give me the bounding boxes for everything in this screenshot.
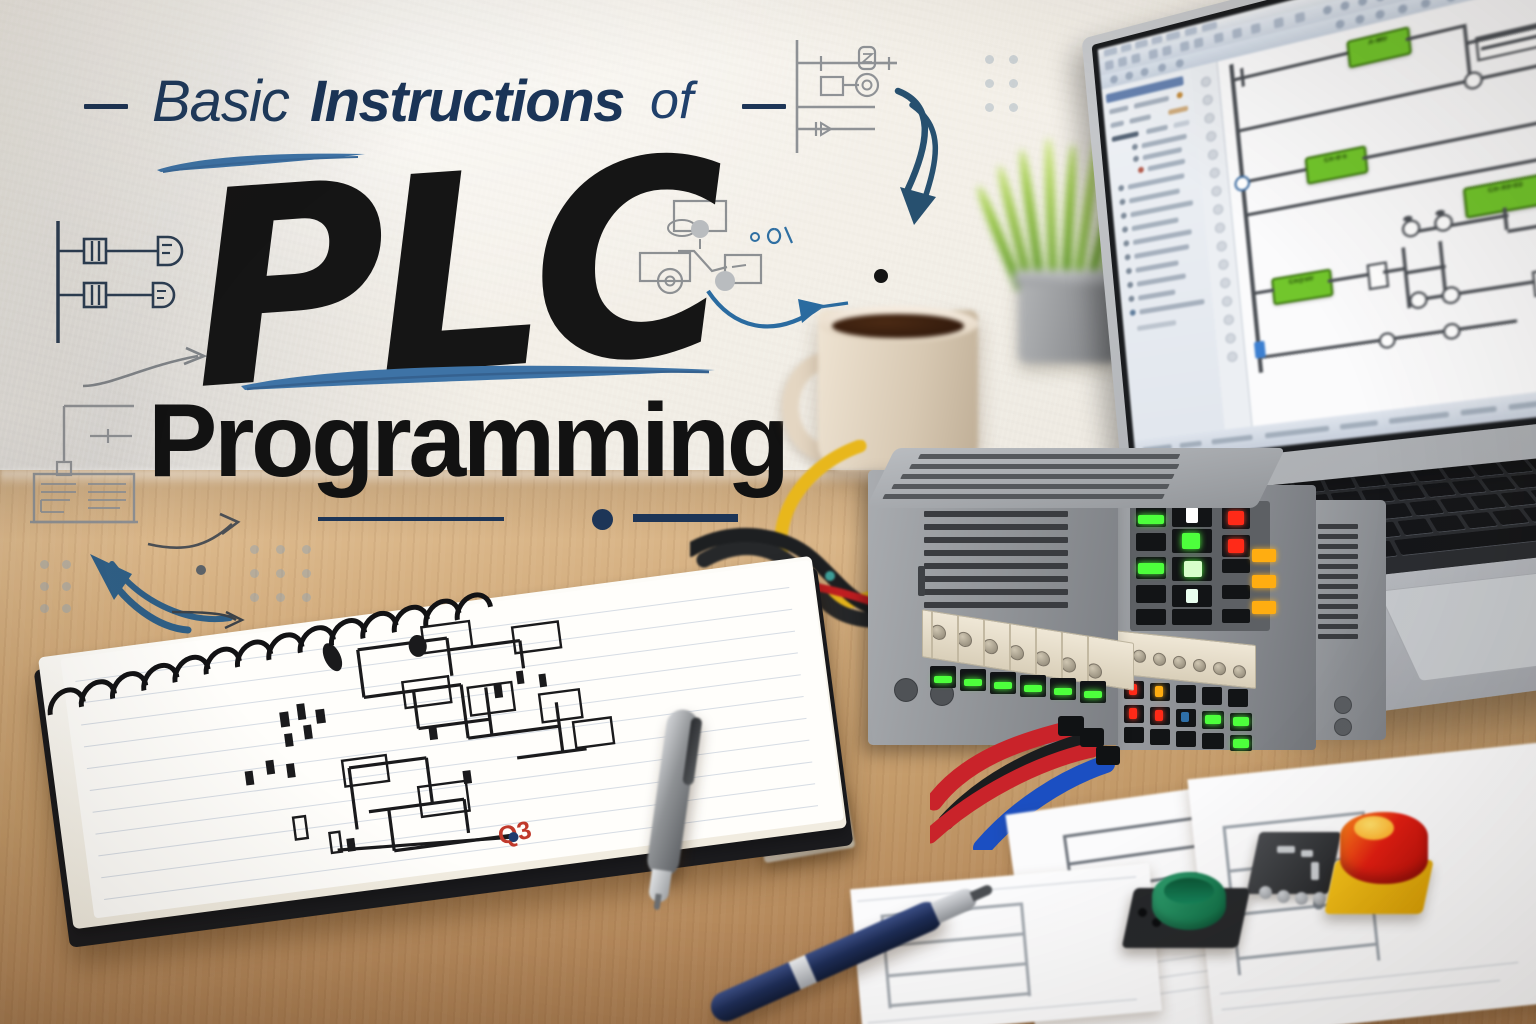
title-rule-dot [592,509,613,530]
coffee-surface [832,314,964,338]
laptop-screen[interactable]: A-Mtr [1098,0,1536,462]
green-push-button[interactable] [1128,872,1244,944]
banner-image: Basic Instructions of PLC Programming [0,0,1536,1024]
relay-body [1246,832,1341,894]
title-word-basic: Basic [152,68,289,135]
laptop-trackpad[interactable] [1378,568,1536,682]
curved-arrow-down-icon [890,85,1000,250]
ladder-block[interactable]: Cn-X0-03 [1463,172,1536,219]
expansion-module [1308,500,1386,740]
ladder-block[interactable]: Cn-d-s [1305,145,1369,185]
black-dot-icon [863,258,899,294]
title-dash-right [742,104,786,109]
ladder-diagram[interactable]: A-Mtr [1220,0,1536,426]
led-panel [1130,501,1270,631]
laptop-lid: A-Mtr [1082,0,1536,500]
plc-top-cover [866,448,1285,508]
cpu-vents [924,498,1074,618]
button-inner [1164,878,1214,904]
title-dash-left [84,104,128,109]
ladder-editor-canvas[interactable]: A-Mtr [1190,0,1536,430]
laptop-bezel: A-Mtr [1092,0,1536,469]
title-block: Basic Instructions of PLC Programming [0,30,790,510]
ladder-block[interactable]: Cn@str [1271,268,1334,305]
emergency-stop-button[interactable] [1330,812,1440,922]
ladder-block[interactable]: A-Mtr [1346,26,1412,68]
black-relay-module [1253,832,1339,910]
estop-highlight [1354,816,1394,840]
title-rule-thin [318,517,504,521]
